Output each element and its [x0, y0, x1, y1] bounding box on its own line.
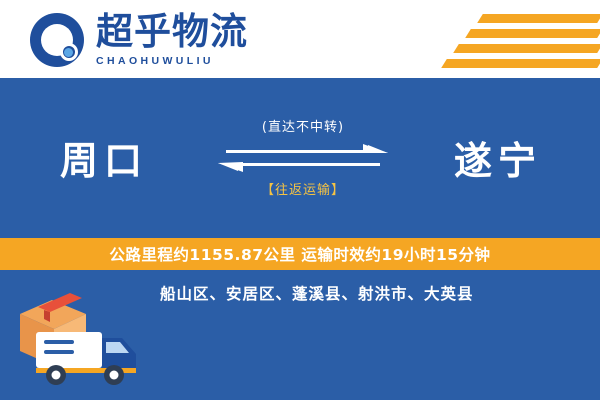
brand-name-en: CHAOHUWULIU — [96, 55, 296, 67]
direct-note: (直达不中转) — [218, 116, 388, 135]
orange-stripes-icon — [440, 14, 600, 66]
destination-city: 遂宁 — [454, 130, 542, 185]
delivery-truck-icon — [18, 288, 158, 393]
distance-duration-text: 公路里程约1155.87公里 运输时效约19小时15分钟 — [109, 243, 490, 265]
poster-root: 超乎物流 CHAOHUWULIU 周口 遂宁 (直达不中转) — [0, 0, 600, 400]
origin-city: 周口 — [60, 130, 148, 185]
info-bar: 公路里程约1155.87公里 运输时效约19小时15分钟 — [0, 238, 600, 270]
coverage-area: 船山区、安居区、蓬溪县、射洪市、大英县 — [0, 270, 600, 400]
coverage-areas-text: 船山区、安居区、蓬溪县、射洪市、大英县 — [160, 282, 580, 306]
brand-name-cn: 超乎物流 — [96, 12, 296, 52]
double-arrow-icon — [218, 141, 388, 177]
header: 超乎物流 CHAOHUWULIU — [0, 0, 600, 78]
route-middle-block: (直达不中转) 【往返运输】 — [218, 116, 388, 198]
main-panel: 周口 遂宁 (直达不中转) 【往返运输】 — [0, 78, 600, 400]
stripe-3 — [453, 44, 600, 53]
stripe-1 — [477, 14, 600, 23]
stripe-4 — [441, 59, 600, 68]
circle-q-logo-icon — [30, 13, 84, 67]
logo-dot — [64, 48, 73, 57]
round-trip-note: 【往返运输】 — [218, 179, 388, 198]
route-area: 周口 遂宁 (直达不中转) 【往返运输】 — [0, 78, 600, 238]
brand-block: 超乎物流 CHAOHUWULIU — [96, 12, 296, 67]
stripe-2 — [465, 29, 600, 38]
